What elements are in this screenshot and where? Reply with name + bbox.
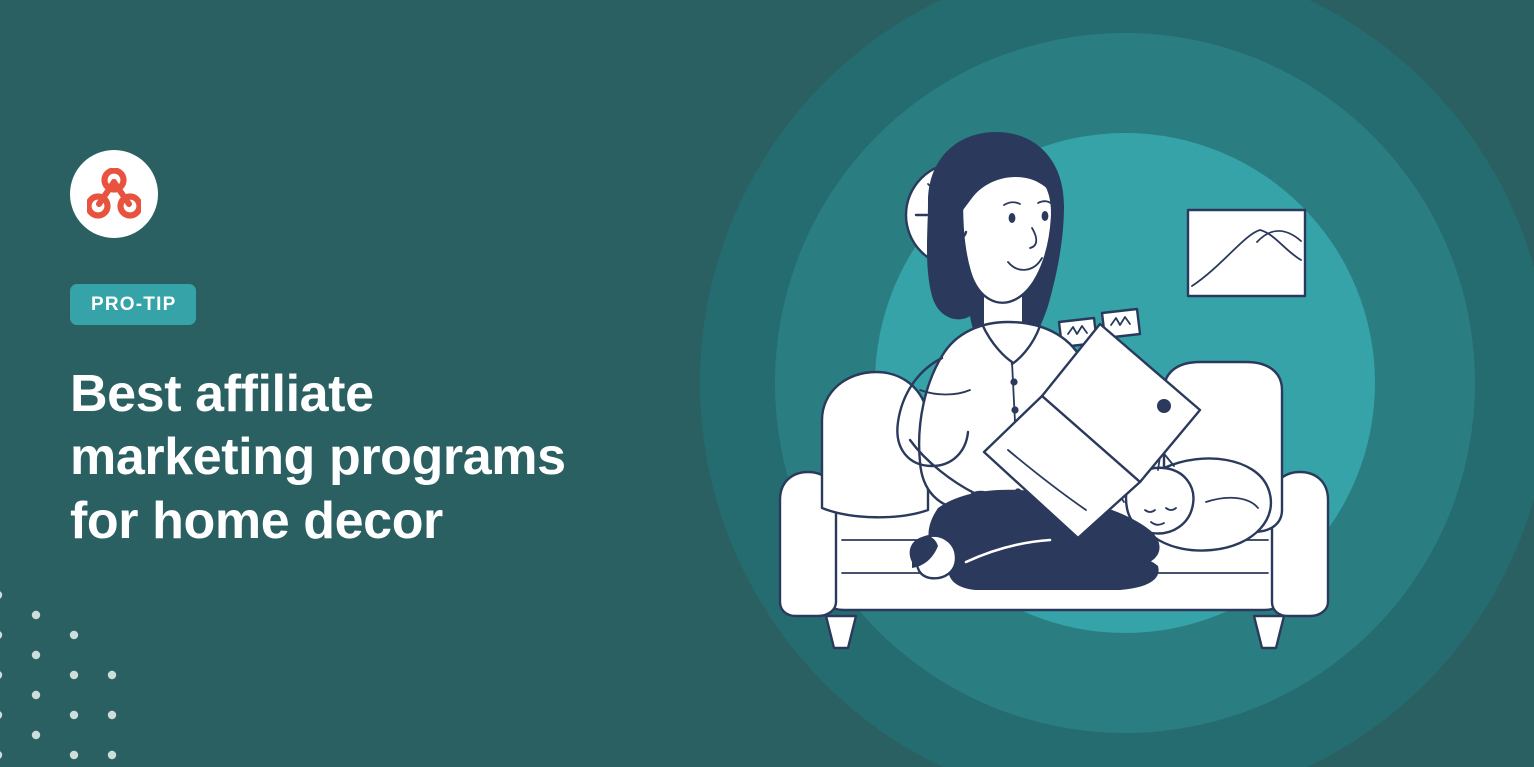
brand-logo[interactable] bbox=[70, 150, 158, 238]
page-title: Best affiliate marketing programs for ho… bbox=[70, 363, 570, 553]
network-nodes-icon bbox=[87, 168, 141, 220]
content-column: PRO-TIP Best affiliate marketing program… bbox=[70, 150, 630, 553]
dot-grid-pattern bbox=[0, 573, 160, 767]
pro-tip-badge: PRO-TIP bbox=[70, 284, 196, 325]
illustration-woman-on-sofa: .ln { fill:none; stroke:#2b3a5c; stroke-… bbox=[760, 110, 1400, 720]
framed-picture-icon bbox=[1188, 210, 1305, 296]
pro-tip-banner: PRO-TIP Best affiliate marketing program… bbox=[0, 0, 1534, 767]
